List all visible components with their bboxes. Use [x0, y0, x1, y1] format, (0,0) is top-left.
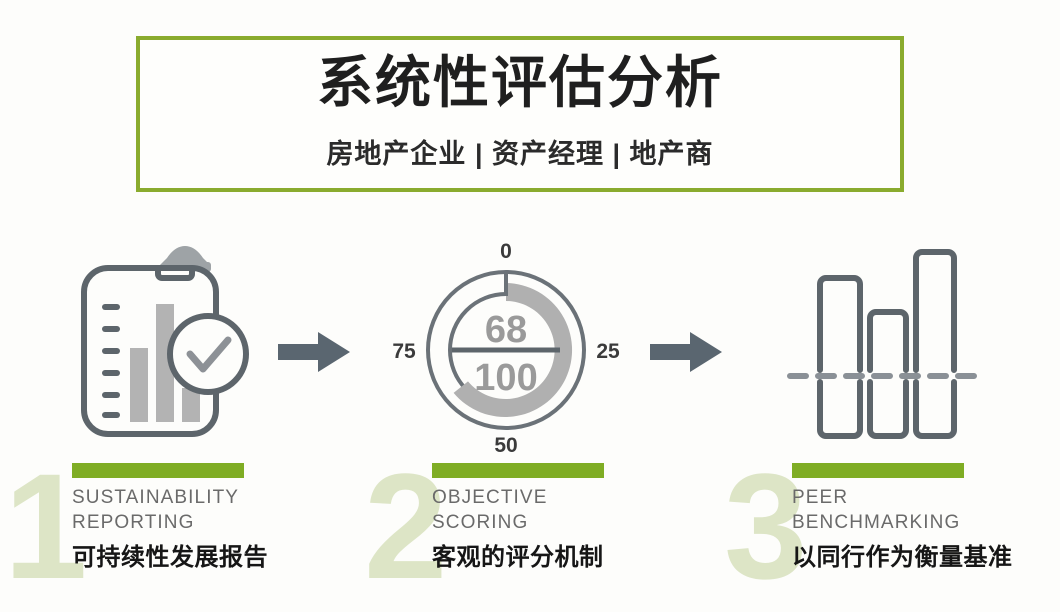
- page-title: 系统性评估分析: [140, 54, 900, 113]
- benchmark-bar-outlines: [820, 252, 954, 436]
- step-3-accent-bar: [792, 463, 964, 478]
- step-1-chinese: 可持续性发展报告: [72, 537, 340, 572]
- gauge-label-25: 25: [596, 340, 620, 363]
- step-1: 1 SUSTAINABILITY REPORTING 可持续性发展报告: [4, 455, 344, 612]
- step-2-chinese: 客观的评分机制: [432, 537, 700, 572]
- check-circle: [170, 316, 246, 392]
- step-1-body: SUSTAINABILITY REPORTING 可持续性发展报告: [72, 463, 340, 572]
- gauge-tick-zero: [504, 272, 508, 296]
- arrow-right-2-icon: [648, 328, 728, 376]
- step-1-english-line2: REPORTING: [72, 510, 340, 535]
- step-3-body: PEER BENCHMARKING 以同行作为衡量基准: [792, 463, 1060, 572]
- step-2-body: OBJECTIVE SCORING 客观的评分机制: [432, 463, 700, 572]
- gauge-label-50: 50: [494, 434, 517, 457]
- clipboard-report-icon: [60, 232, 310, 458]
- step-2: 2 OBJECTIVE SCORING 客观的评分机制: [364, 455, 704, 612]
- step-2-english-line2: SCORING: [432, 510, 700, 535]
- icon-row: 0 25 50 75 68 100: [0, 232, 1060, 458]
- steps-row: 1 SUSTAINABILITY REPORTING 可持续性发展报告 2 OB…: [0, 455, 1060, 612]
- gauge-label-75: 75: [392, 340, 416, 363]
- step-3-english-line2: BENCHMARKING: [792, 510, 1060, 535]
- gauge-label-0: 0: [500, 240, 512, 263]
- step-3-chinese: 以同行作为衡量基准: [792, 537, 1060, 572]
- peer-benchmark-bars-icon: [760, 232, 990, 458]
- page-subtitle: 房地产企业 | 资产经理 | 地产商: [140, 132, 900, 171]
- title-box: 系统性评估分析 房地产企业 | 资产经理 | 地产商: [136, 36, 904, 192]
- step-1-accent-bar: [72, 463, 244, 478]
- step-3: 3 PEER BENCHMARKING 以同行作为衡量基准: [724, 455, 1060, 612]
- infographic-canvas: 系统性评估分析 房地产企业 | 资产经理 | 地产商: [0, 0, 1060, 612]
- arrow-right-1-icon: [276, 328, 356, 376]
- gauge-score-total: 100: [474, 357, 537, 399]
- score-gauge-icon: 0 25 50 75 68 100: [376, 232, 636, 458]
- step-2-accent-bar: [432, 463, 604, 478]
- step-3-english-line1: PEER: [792, 485, 1060, 510]
- step-2-english-line1: OBJECTIVE: [432, 485, 700, 510]
- gauge-score-value: 68: [485, 309, 527, 351]
- step-1-english-line1: SUSTAINABILITY: [72, 485, 340, 510]
